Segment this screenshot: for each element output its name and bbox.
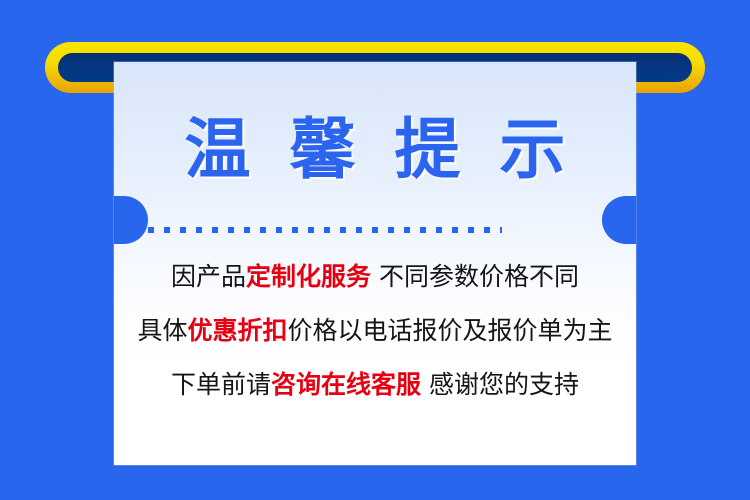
notice-line-3: 下单前请咨询在线客服 感谢您的支持: [171, 366, 579, 404]
notice-text: 因产品: [171, 262, 246, 291]
notice-text: 具体: [137, 316, 187, 345]
banner-title: 温 馨 提 示: [177, 117, 574, 183]
notice-line-1: 因产品定制化服务 不同参数价格不同: [171, 258, 579, 296]
notice-text: 价格以电话报价及报价单为主: [288, 316, 613, 345]
notice-text: 下单前请: [171, 370, 271, 399]
dotted-divider: [148, 227, 502, 233]
notice-text: 感谢您的支持: [421, 370, 579, 399]
notice-highlight: 定制化服务: [246, 262, 371, 291]
promo-banner-canvas: 温 馨 提 示 因产品定制化服务 不同参数价格不同 具体优惠折扣价格以电话报价及…: [0, 0, 750, 500]
notice-highlight: 优惠折扣: [187, 316, 287, 345]
notice-line-2: 具体优惠折扣价格以电话报价及报价单为主: [137, 312, 612, 350]
notice-text-block: 因产品定制化服务 不同参数价格不同 具体优惠折扣价格以电话报价及报价单为主 下单…: [114, 252, 636, 432]
notice-text: 不同参数价格不同: [371, 262, 579, 291]
notice-highlight: 咨询在线客服: [271, 370, 421, 399]
banner-title-area: 温 馨 提 示: [114, 108, 636, 192]
